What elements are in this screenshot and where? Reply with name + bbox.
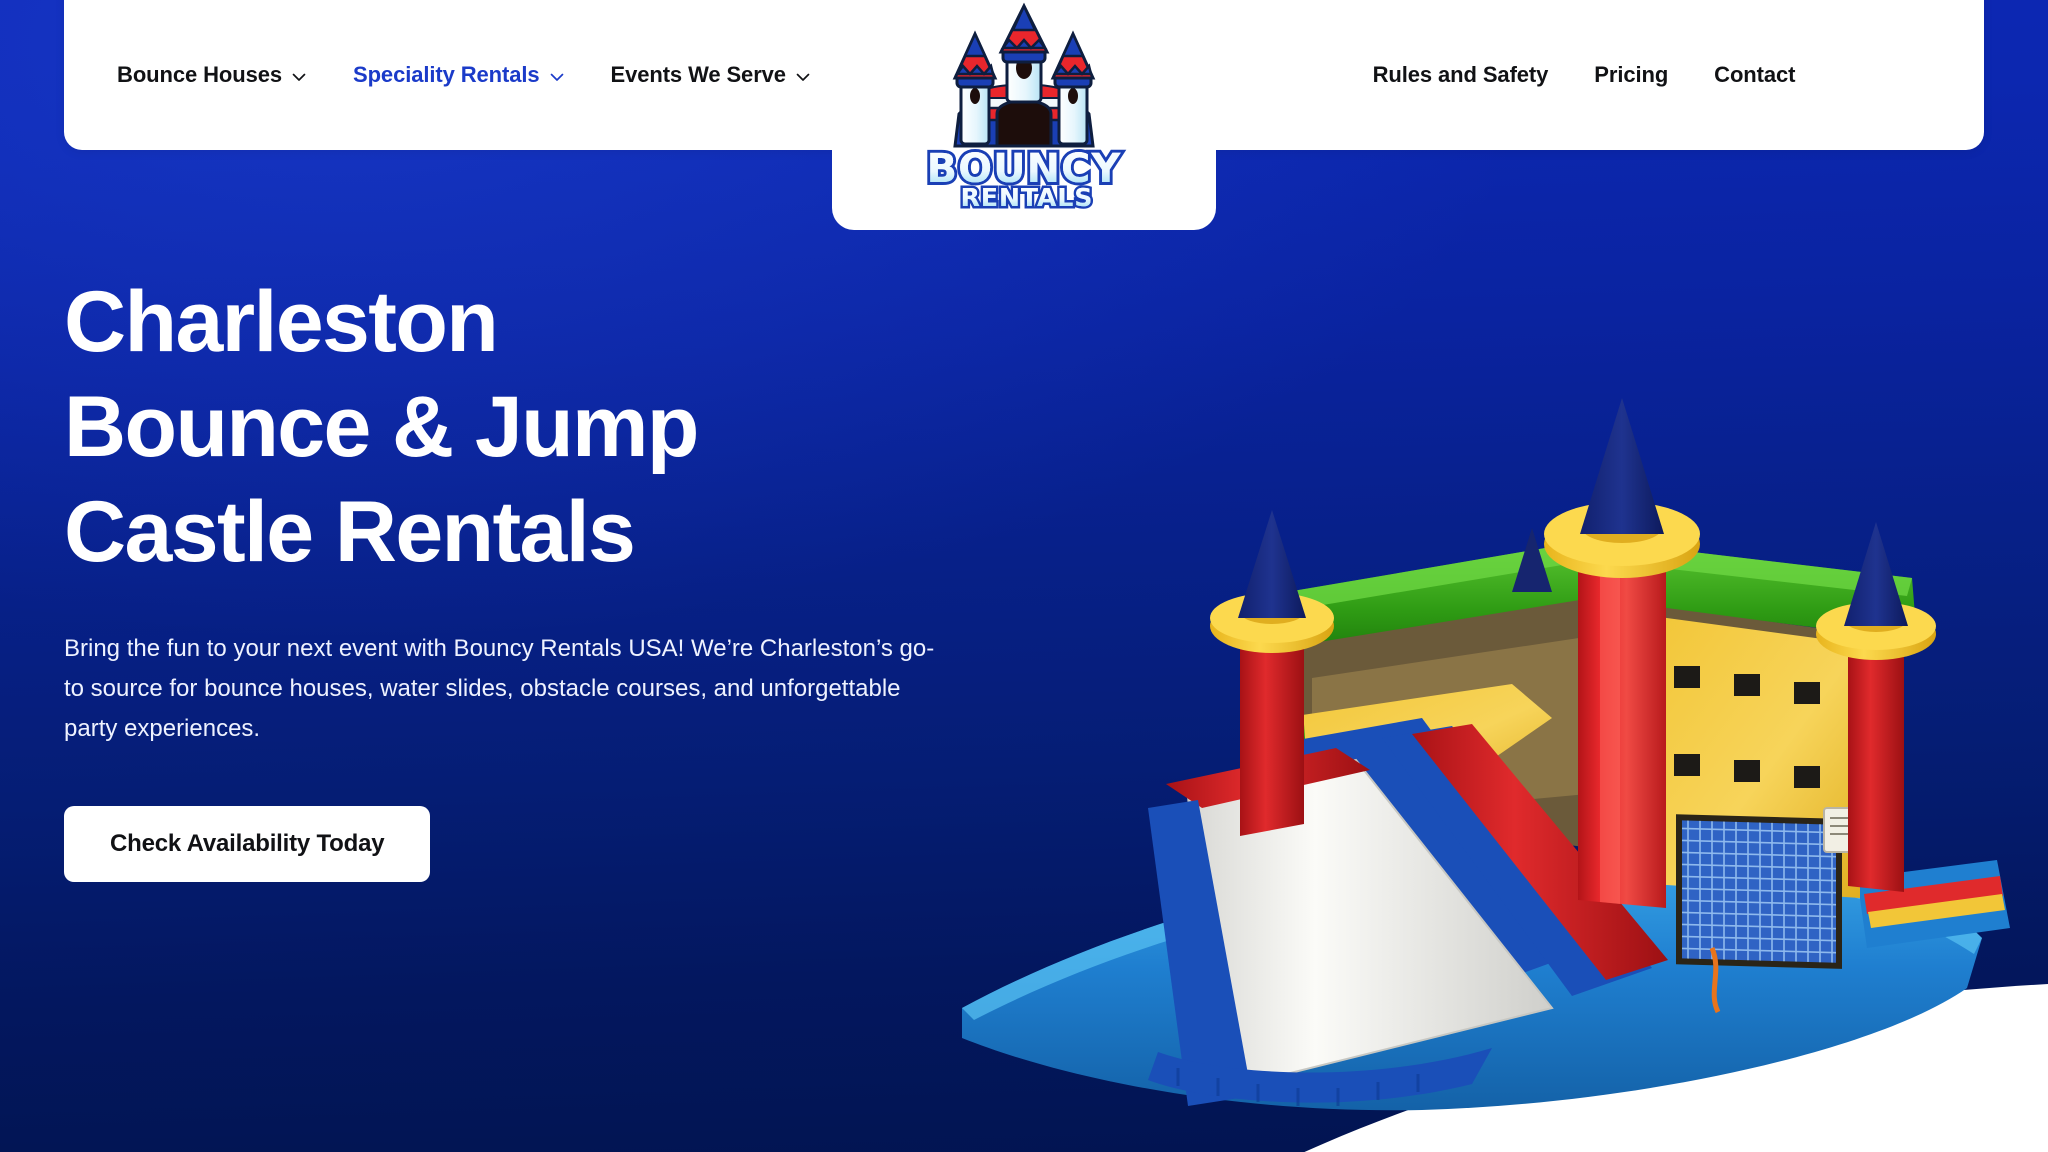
page-title: Charleston Bounce & Jump Castle Rentals [64, 270, 964, 585]
logo-card[interactable]: BOUNCY BOUNCY RENTALS RENTALS [832, 0, 1216, 230]
chevron-down-icon [291, 69, 307, 85]
nav-item-events-we-serve[interactable]: Events We Serve [611, 61, 811, 90]
nav-item-bounce-houses[interactable]: Bounce Houses [117, 61, 307, 90]
chevron-down-icon [549, 69, 565, 85]
bouncy-rentals-logo-icon: BOUNCY BOUNCY RENTALS RENTALS [919, 0, 1129, 216]
nav-item-rules-and-safety[interactable]: Rules and Safety [1373, 61, 1549, 90]
nav-item-bounce-houses-label: Bounce Houses [117, 61, 282, 90]
hero-content: Charleston Bounce & Jump Castle Rentals … [64, 270, 964, 882]
nav-item-contact[interactable]: Contact [1714, 61, 1795, 90]
svg-text:RENTALS: RENTALS [961, 183, 1094, 212]
nav-item-speciality-rentals[interactable]: Speciality Rentals [353, 61, 565, 90]
page-title-line-3: Castle Rentals [64, 480, 964, 585]
nav-item-events-we-serve-label: Events We Serve [611, 61, 786, 90]
check-availability-button[interactable]: Check Availability Today [64, 806, 430, 882]
page-title-line-2: Bounce & Jump [64, 375, 964, 480]
nav-item-pricing[interactable]: Pricing [1594, 61, 1668, 90]
hero-subtitle: Bring the fun to your next event with Bo… [64, 629, 944, 750]
page-title-line-1: Charleston [64, 270, 964, 375]
nav-item-speciality-rentals-label: Speciality Rentals [353, 61, 540, 90]
chevron-down-icon [795, 69, 811, 85]
bounce-house-image [952, 248, 2012, 1128]
